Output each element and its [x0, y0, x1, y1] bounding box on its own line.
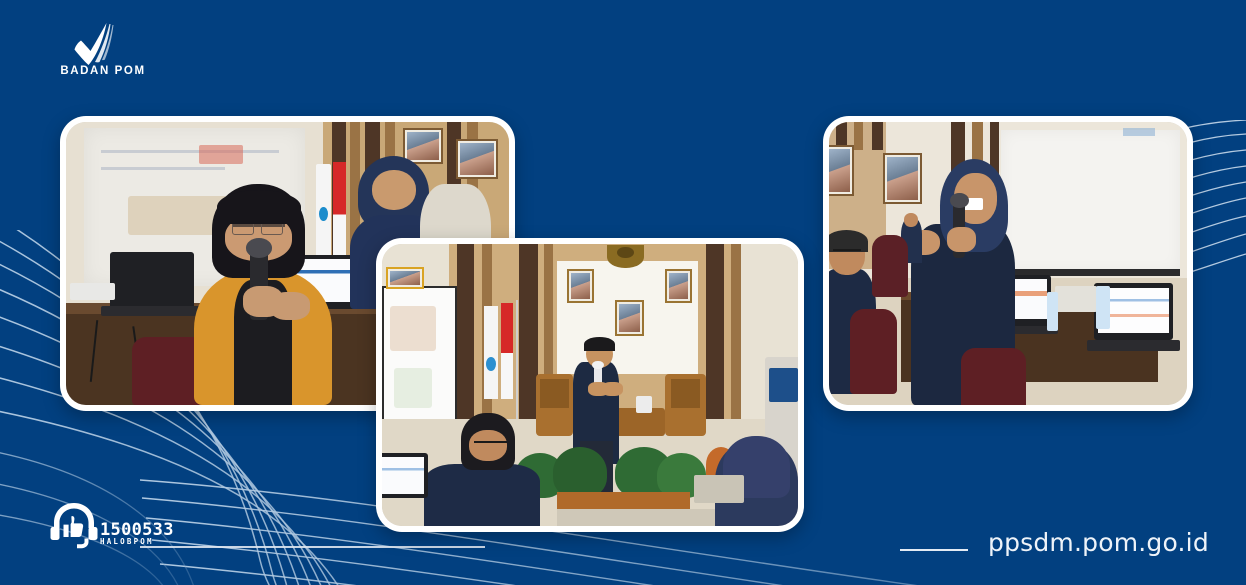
website-divider-line	[900, 549, 968, 551]
contact-divider-line	[140, 546, 485, 548]
photo-card-right[interactable]	[823, 116, 1193, 411]
brand-logo-text: BADAN POM	[44, 65, 162, 77]
contact-block: 1500533 HALOBPOM	[48, 500, 168, 562]
poster-canvas: BADAN POM	[0, 0, 1246, 585]
photo-card-center[interactable]	[376, 238, 804, 532]
contact-label: HALOBPOM	[100, 537, 154, 546]
website-url[interactable]: ppsdm.pom.go.id	[988, 528, 1209, 557]
brand-logo: BADAN POM	[44, 22, 162, 82]
headset-thumbsup-icon	[48, 500, 100, 552]
bpom-swoosh-icon	[68, 22, 114, 66]
photo-center-image	[382, 244, 798, 526]
photo-right-image	[829, 122, 1187, 405]
